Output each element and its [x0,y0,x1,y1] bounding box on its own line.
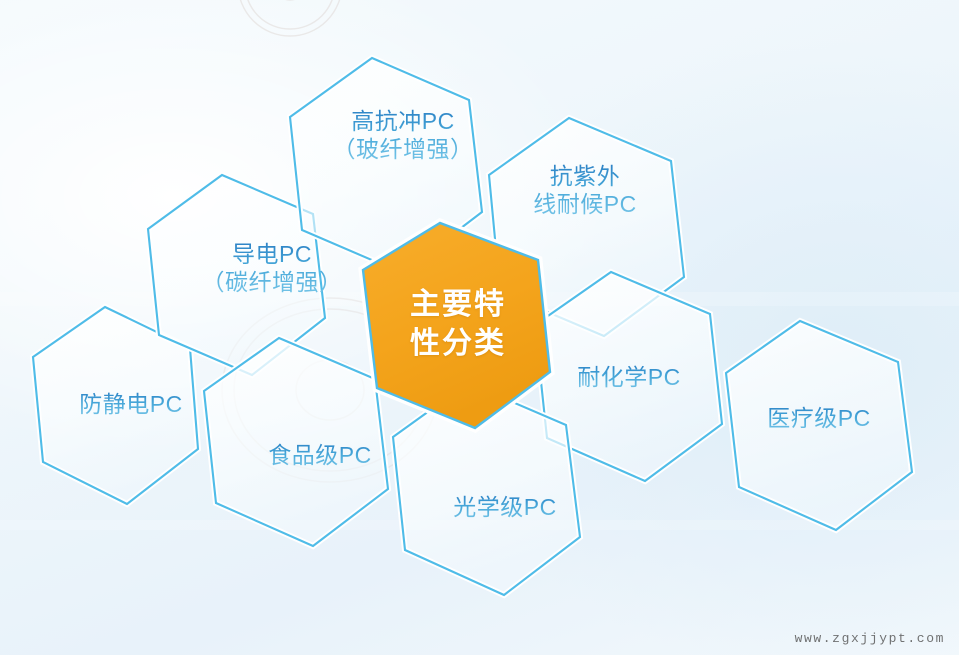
hex-medical-grade-pc [726,321,912,530]
hexagon-diagram-canvas: 高抗冲PC （玻纤增强） 抗紫外 线耐候PC 导电PC （碳纤增强） 防静电PC… [0,0,959,655]
hex-food-grade-pc [204,338,388,546]
hexagon-network [0,0,959,655]
site-url-watermark: www.zgxjjypt.com [795,631,945,646]
hex-center-main [363,223,550,428]
